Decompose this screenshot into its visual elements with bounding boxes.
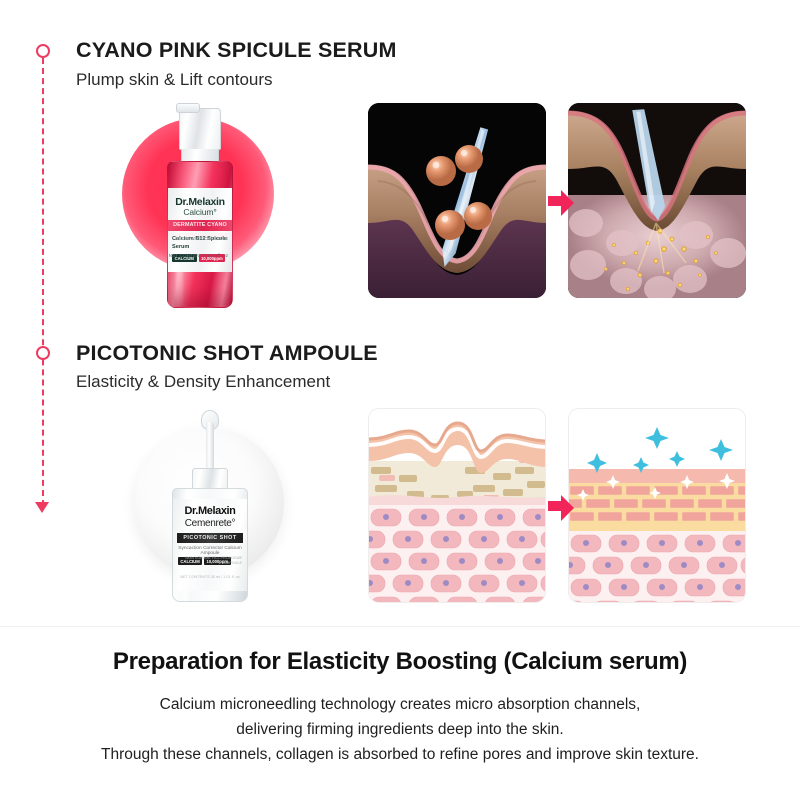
- ampoule-body: Dr.Melaxin Cemenrete° PICOTONIC SHOT Syn…: [172, 488, 248, 602]
- wrinkled-skin-cross-section-icon: [369, 409, 546, 603]
- firmed-skin-cross-section-icon: [569, 409, 746, 603]
- illustration-skin-before: [368, 408, 546, 603]
- transition-arrow-icon: [548, 188, 574, 214]
- section-title-2: PICOTONIC SHOT AMPOULE: [76, 341, 378, 366]
- circle-marker-icon: [36, 346, 50, 360]
- arrow-down-icon: [35, 502, 49, 513]
- footer-line-1: Calcium microneedling technology creates…: [0, 692, 800, 717]
- section-title-1: CYANO PINK SPICULE SERUM: [76, 38, 397, 63]
- serum-bottle: Dr.Melaxin Calcium° DERMATITE CYANO PINK…: [163, 108, 237, 308]
- product-stage-serum: Dr.Melaxin Calcium° DERMATITE CYANO PINK…: [100, 100, 300, 315]
- label-line: Calcium°: [168, 207, 232, 217]
- ampoule-bottle: Dr.Melaxin Cemenrete° PICOTONIC SHOT Syn…: [168, 422, 252, 602]
- label-brand: Dr.Melaxin: [173, 505, 247, 517]
- label-volume: NET CONTENTS 1.01 fl. oz: [169, 254, 228, 259]
- label-band: PICOTONIC SHOT: [177, 533, 243, 543]
- label-band-text: PICOTONIC SHOT: [177, 533, 243, 543]
- section-subtitle-2: Elasticity & Density Enhancement: [76, 372, 330, 392]
- label-line: Cemenrete°: [173, 518, 247, 529]
- bottle-label: Dr.Melaxin Calcium° DERMATITE CYANO PINK…: [168, 188, 232, 272]
- label-fine-print: SKIN VOLUME FILL PROLOGUE AMPOULE: [173, 556, 242, 567]
- footer-body: Calcium microneedling technology creates…: [0, 692, 800, 767]
- label-description: Syncaction Corrector Calcium Ampoule: [173, 546, 247, 556]
- infographic-page: CYANO PINK SPICULE SERUM Plump skin & Li…: [0, 0, 800, 800]
- label-band: DERMATITE CYANO PINK SPICULE SERUM: [168, 220, 232, 231]
- pump-cap-icon: [179, 108, 221, 150]
- circle-marker-icon: [36, 44, 50, 58]
- section-subtitle-1: Plump skin & Lift contours: [76, 70, 273, 90]
- footer-line-2: delivering firming ingredients deep into…: [0, 717, 800, 742]
- bottle-body: Dr.Melaxin Calcium° DERMATITE CYANO PINK…: [167, 161, 233, 308]
- section-divider: [0, 626, 800, 627]
- footer-title: Preparation for Elasticity Boosting (Cal…: [0, 648, 800, 676]
- pore-needle-before-icon: [368, 103, 546, 298]
- bottle-collar: [192, 468, 228, 490]
- footer-line-3: Through these channels, collagen is abso…: [0, 742, 800, 767]
- illustration-pore-needle-before: [368, 103, 546, 298]
- product-stage-ampoule: Dr.Melaxin Cemenrete° PICOTONIC SHOT Syn…: [110, 400, 310, 615]
- timeline-rail: [32, 44, 54, 526]
- illustration-pore-needle-after: [568, 103, 746, 298]
- label-footer: NET CONTENTS 30 ml / 1.01 fl. oz: [173, 575, 247, 579]
- illustration-skin-after: [568, 408, 746, 603]
- label-right-detail: B12 CYANOCOBALAMIN: [175, 235, 228, 243]
- ampoule-label: Dr.Melaxin Cemenrete° PICOTONIC SHOT Syn…: [173, 499, 247, 591]
- dashed-vertical-line-icon: [42, 58, 44, 506]
- transition-arrow-icon: [548, 493, 574, 519]
- pore-needle-after-icon: [568, 103, 746, 298]
